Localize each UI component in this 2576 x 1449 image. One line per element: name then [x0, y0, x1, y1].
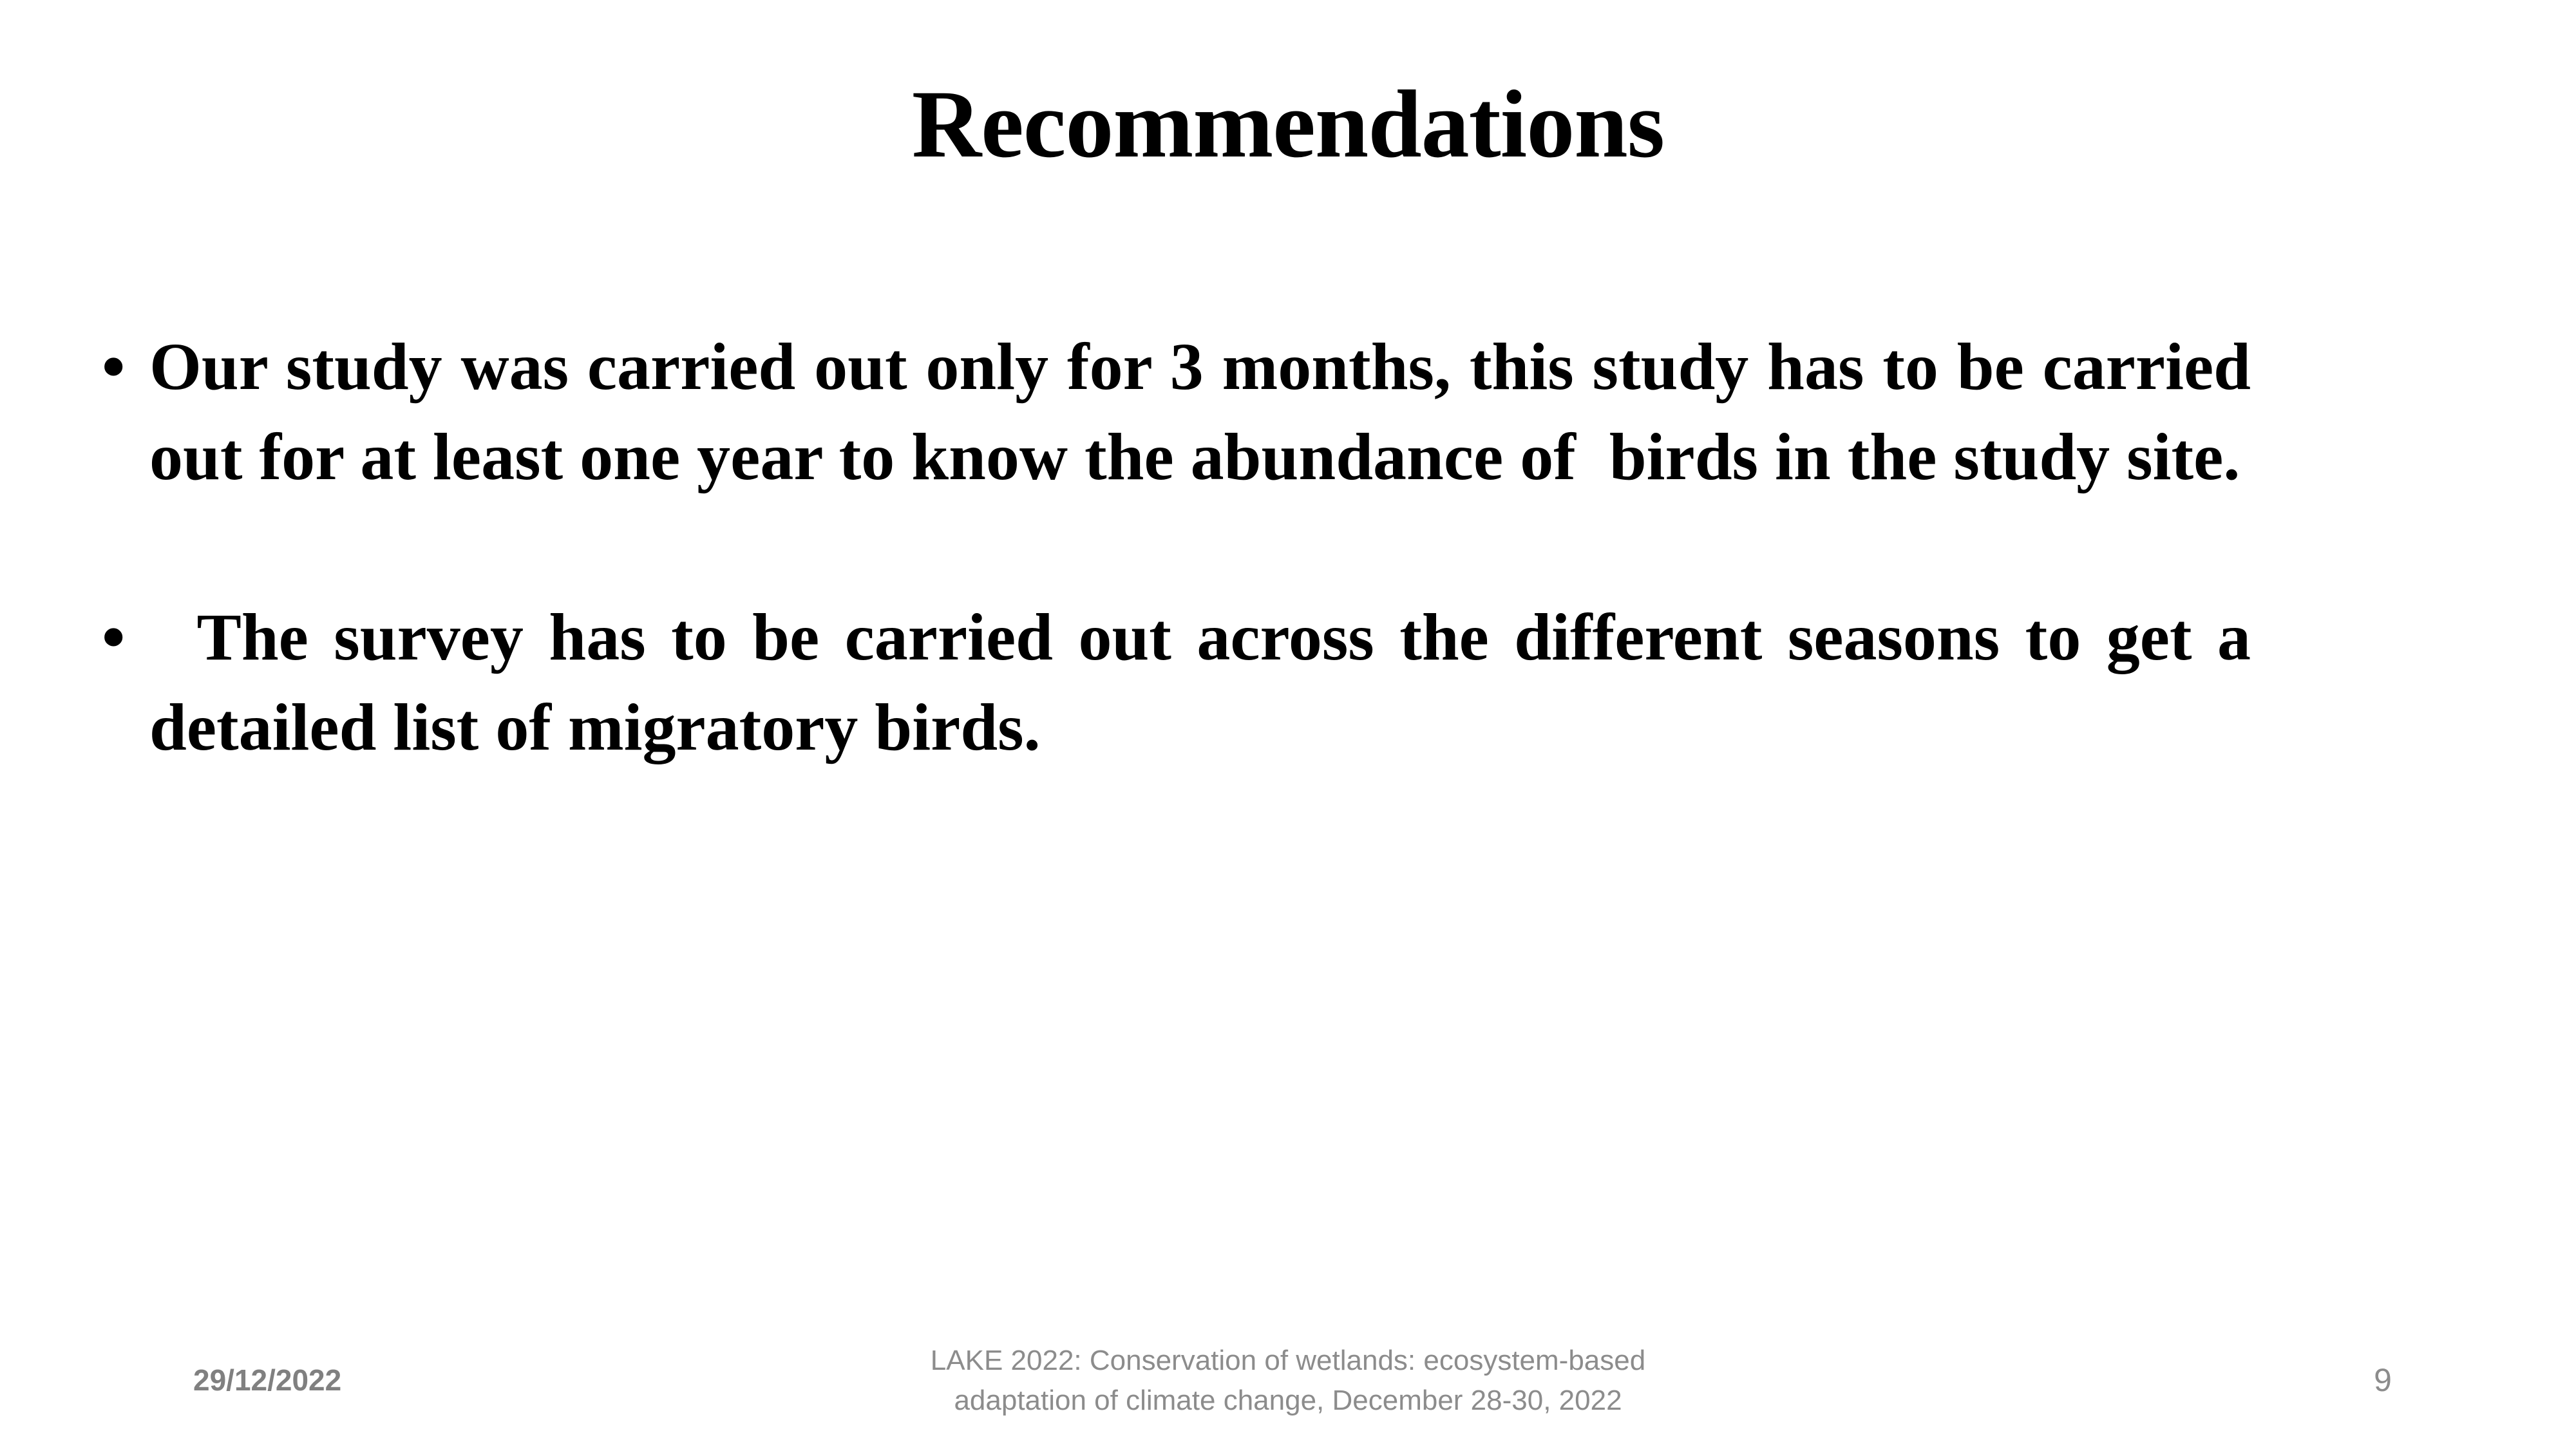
presentation-slide: Recommendations • Our study was carried …	[0, 0, 2576, 1449]
list-item-text: The survey has to be carried out across …	[149, 592, 2251, 773]
list-item: • The survey has to be carried out acros…	[97, 592, 2251, 773]
footer-conference-text: LAKE 2022: Conservation of wetlands: eco…	[895, 1341, 1681, 1421]
bullet-marker-icon: •	[102, 322, 140, 412]
bullet-marker-icon: •	[102, 592, 140, 683]
list-item-text: Our study was carried out only for 3 mon…	[149, 322, 2251, 502]
footer-conference-line-2: adaptation of climate change, December 2…	[895, 1381, 1681, 1421]
bullet-spacer	[97, 502, 2251, 592]
footer-page-number: 9	[2344, 1360, 2421, 1400]
page-title: Recommendations	[0, 76, 2576, 173]
footer-date: 29/12/2022	[193, 1360, 341, 1400]
footer-conference-line-1: LAKE 2022: Conservation of wetlands: eco…	[895, 1341, 1681, 1381]
bullet-list: • Our study was carried out only for 3 m…	[97, 322, 2251, 773]
list-item: • Our study was carried out only for 3 m…	[97, 322, 2251, 502]
